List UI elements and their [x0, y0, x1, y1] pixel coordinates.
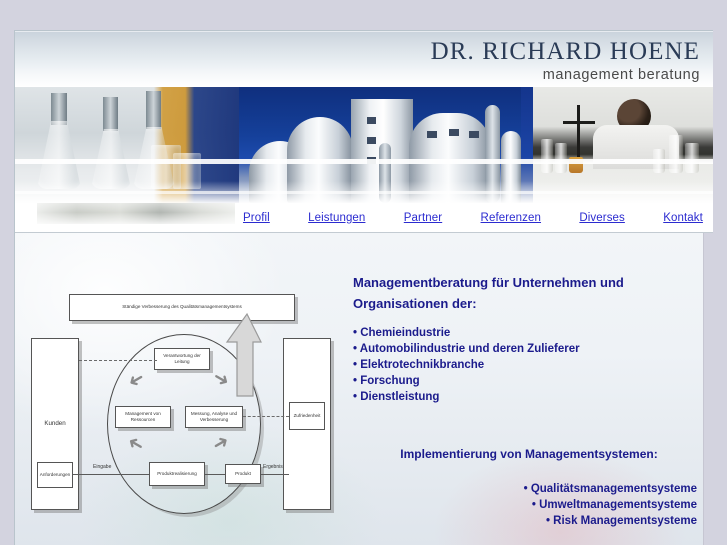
diagram-requirements-box: Anforderungen [37, 462, 73, 488]
bottle-icon [669, 135, 683, 173]
amber-bottle-icon [569, 157, 583, 173]
banner-image-strip [15, 87, 713, 203]
industry-item: • Elektrotechnikbranche [353, 357, 693, 373]
management-systems-list: • Qualitätsmanagementsysteme • Umweltman… [353, 481, 697, 529]
flask-neck-icon [103, 97, 118, 131]
diagram-feedback-dashed-line [243, 416, 289, 417]
nav-item-profil[interactable]: Profil [243, 212, 270, 224]
diagram-output-line [261, 474, 289, 475]
lead-heading-line-1: Managementberatung für Unternehmen und [353, 272, 693, 293]
banner-panel-industrial-plant [239, 87, 521, 203]
lab-clamp-icon [563, 121, 595, 124]
nav-item-diverses[interactable]: Diverses [579, 212, 625, 224]
flask-neck-icon [146, 91, 161, 129]
diagram-output-label: Ergebnis [263, 464, 283, 470]
pipe-icon [485, 105, 500, 203]
diagram-management-responsibility-box: Verantwortung der Leitung [154, 348, 210, 370]
diagram-resource-management-box: Management von Ressourcen [115, 406, 171, 428]
lead-heading-line-2: Organisationen der: [353, 293, 693, 314]
company-name: DR. RICHARD HOENE [431, 39, 700, 65]
nav-item-partner[interactable]: Partner [404, 212, 442, 224]
bottle-icon [555, 143, 567, 173]
management-system-item: • Risk Managementsysteme [353, 513, 697, 529]
scientist-labcoat-icon [593, 125, 679, 169]
diagram-product-box: Produkt [225, 464, 261, 484]
pipe-icon [379, 143, 391, 203]
company-tagline: management beratung [431, 67, 700, 83]
flask-icon [91, 129, 131, 189]
window-icon [367, 157, 376, 164]
bottle-icon [685, 143, 699, 173]
banner-panel-laboratory-glassware [15, 87, 239, 203]
nav-item-leistungen[interactable]: Leistungen [308, 212, 365, 224]
diagram-satisfaction-box: Zufriedenheit [289, 402, 325, 430]
diagram-product-realization-box: Produktrealisierung [149, 462, 205, 486]
nav-item-kontakt[interactable]: Kontakt [663, 212, 703, 224]
page-root: DR. RICHARD HOENE management beratung [0, 0, 727, 545]
window-icon [367, 117, 376, 124]
content-area: Ständige Verbesserung des Qualitätsmanag… [15, 232, 713, 545]
banner-panel-scientist [521, 87, 713, 203]
lead-heading: Managementberatung für Unternehmen und O… [353, 272, 693, 314]
beaker-icon [173, 153, 201, 189]
diagram-measurement-analysis-box: Messung, Analyse und Verbesserung [185, 406, 243, 428]
bottle-icon [541, 139, 553, 173]
site-logo: DR. RICHARD HOENE management beratung [431, 39, 700, 83]
management-system-item: • Umweltmanagementsysteme [353, 497, 697, 513]
management-system-item: • Qualitätsmanagementsysteme [353, 481, 697, 497]
implementation-heading: Implementierung von Managementsystemen: [353, 447, 705, 461]
nav-item-referenzen[interactable]: Referenzen [481, 212, 541, 224]
industry-item: • Forschung [353, 373, 693, 389]
window-icon [367, 137, 376, 144]
flask-neck-icon [51, 93, 67, 125]
window-icon [427, 131, 437, 138]
iso-process-model-diagram: Ständige Verbesserung des Qualitätsmanag… [31, 294, 331, 516]
window-icon [449, 129, 459, 136]
silo-icon [409, 113, 491, 203]
industry-item: • Chemieindustrie [353, 325, 693, 341]
nav-link-list: Profil Leistungen Partner Referenzen Div… [243, 203, 703, 232]
industry-item: • Automobilindustrie und deren Zuliefere… [353, 341, 693, 357]
diagram-flow-line [205, 474, 225, 475]
diagram-improvement-arrow-icon [217, 312, 263, 398]
header-band: DR. RICHARD HOENE management beratung [15, 31, 713, 87]
industry-item: • Dienstleistung [353, 389, 693, 405]
diagram-input-line [73, 474, 149, 475]
site-frame: DR. RICHARD HOENE management beratung [14, 30, 713, 545]
main-navigation: Profil Leistungen Partner Referenzen Div… [15, 203, 713, 233]
bottle-icon [653, 149, 665, 173]
diagram-feedback-dashed-line [79, 360, 157, 361]
silo-icon [287, 117, 353, 203]
flask-icon [37, 121, 81, 189]
content-right-margin [703, 232, 713, 545]
silo-icon [501, 131, 521, 203]
diagram-input-label: Eingabe [93, 464, 111, 470]
nav-background-image [37, 203, 235, 224]
window-icon [469, 131, 479, 138]
industries-list: • Chemieindustrie • Automobilindustrie u… [353, 325, 693, 405]
